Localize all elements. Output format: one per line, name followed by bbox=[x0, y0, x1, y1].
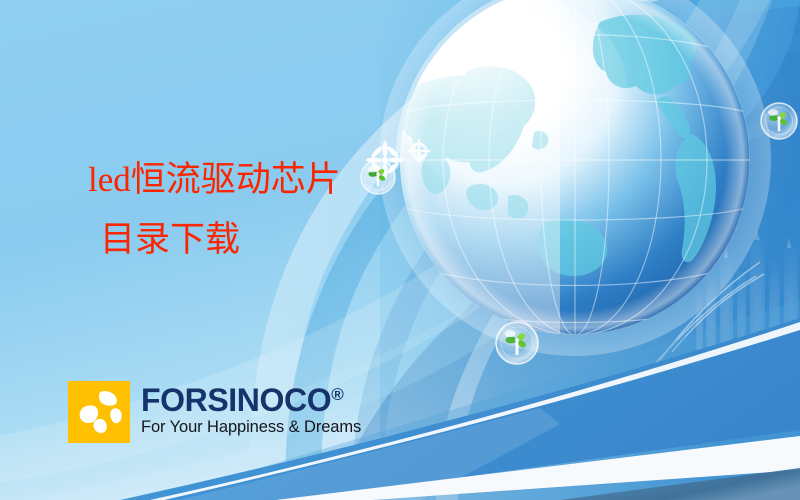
headline-line-1: led恒流驱动芯片 bbox=[78, 162, 408, 198]
company-logo[interactable]: FORSINOCO® For Your Happiness & Dreams bbox=[68, 381, 361, 443]
headline-block: led恒流驱动芯片 目录下载 bbox=[78, 162, 408, 259]
logo-mark-flower-icon bbox=[68, 381, 130, 443]
bubble-wind-turbine-icon-3 bbox=[761, 103, 797, 139]
banner: led恒流驱动芯片 目录下载 FORSINOCO® For Your Happi… bbox=[0, 0, 800, 500]
logo-wordmark-text: FORSINOCO bbox=[141, 382, 331, 418]
registered-trademark-icon: ® bbox=[331, 385, 344, 404]
logo-wordmark: FORSINOCO® bbox=[141, 384, 361, 416]
headline-line-2: 目录下载 bbox=[78, 222, 408, 258]
logo-text-block: FORSINOCO® For Your Happiness & Dreams bbox=[141, 381, 361, 437]
bubble-wind-turbine-icon-2 bbox=[496, 322, 538, 364]
logo-tagline: For Your Happiness & Dreams bbox=[141, 418, 361, 437]
